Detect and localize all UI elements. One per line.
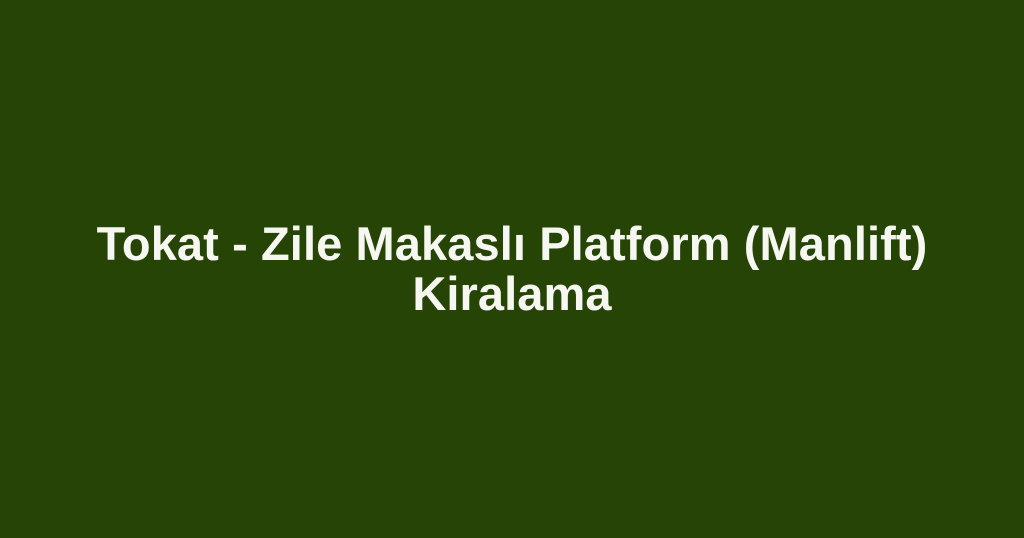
og-preview-card: Tokat - Zile Makaslı Platform (Manlift) … [0,0,1024,538]
page-title: Tokat - Zile Makaslı Platform (Manlift) … [56,219,968,319]
title-block: Tokat - Zile Makaslı Platform (Manlift) … [0,219,1024,319]
